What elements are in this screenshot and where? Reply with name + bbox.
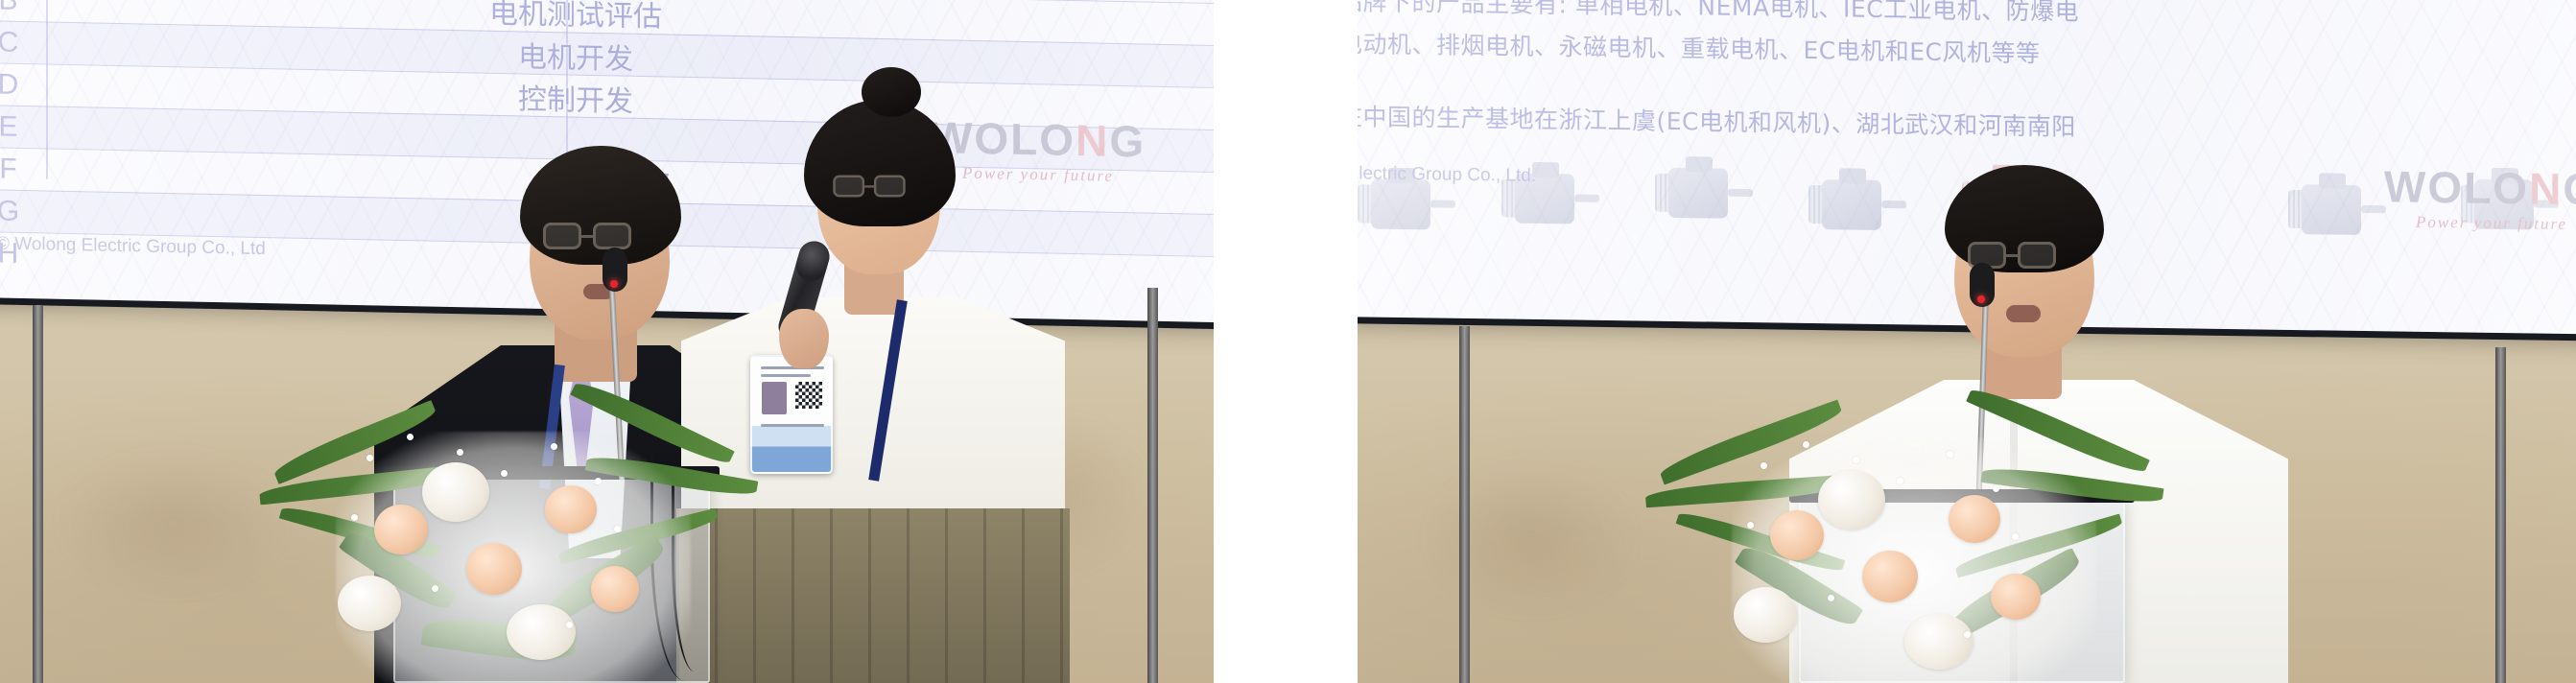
- screen-support-pole: [33, 305, 43, 683]
- flower-bouquet-left: [278, 288, 739, 683]
- hair: [804, 100, 956, 226]
- qr-code-icon: [795, 382, 822, 409]
- left-photograph: B C D E F G H: [0, 0, 1214, 683]
- eyeglass-lens: [833, 176, 864, 198]
- rose: [1770, 510, 1824, 560]
- mic-led-indicator: [1977, 295, 1985, 303]
- lily: [422, 462, 489, 522]
- flower-bouquet-right: [1665, 307, 2144, 683]
- photo-gutter: [1214, 0, 1358, 683]
- rose: [591, 566, 639, 612]
- table-row-letter: C: [0, 25, 46, 59]
- lily: [338, 576, 401, 631]
- table-row-letter: D: [0, 67, 46, 102]
- slide-line-2: 电动机、排烟电机、永磁电机、重载电机、EC电机和EC风机等等: [1358, 25, 2041, 74]
- badge-photo: [762, 382, 787, 414]
- lily: [1904, 614, 1973, 670]
- white-blouse: [681, 297, 1065, 539]
- eyeglass-bridge: [2006, 254, 2018, 257]
- wolong-wordmark: WOLONG: [2384, 164, 2576, 211]
- table-row-letter: E: [0, 109, 46, 144]
- eyeglass-bridge: [864, 185, 874, 187]
- rose: [1991, 574, 2041, 620]
- table-row-letter: F: [0, 152, 46, 186]
- rose: [466, 543, 522, 595]
- rose: [1862, 551, 1918, 602]
- screen-support-pole: [2495, 347, 2506, 683]
- photo-pair-stage: B C D E F G H: [0, 0, 2576, 683]
- badge-text-line: [761, 424, 824, 427]
- rose: [374, 505, 428, 554]
- eyeglasses: [833, 176, 905, 198]
- lily: [1818, 470, 1885, 530]
- right-photograph: 品牌下的产品主要有: 单相电机、NEMA电机、IEC工业电机、防爆电 电动机、排…: [1358, 0, 2576, 683]
- eyeglasses: [543, 223, 631, 249]
- eyeglass-lens: [593, 223, 631, 249]
- wall-stain: [58, 451, 288, 595]
- eyeglass-bridge: [581, 235, 593, 238]
- hair-bun: [862, 67, 921, 117]
- hand: [779, 309, 829, 368]
- eyeglass-lens: [874, 176, 906, 198]
- eyeglass-lens: [543, 223, 581, 249]
- wall-stain: [1425, 460, 1636, 614]
- lily: [507, 604, 576, 660]
- rose: [545, 485, 597, 533]
- speaker-woman: [700, 29, 1046, 683]
- screen-support-pole: [1459, 326, 1470, 683]
- slide-copyright-right: © Wolong Electric Group Co., Ltd.: [1358, 162, 1536, 187]
- screen-support-pole: [1147, 288, 1158, 683]
- rose: [1949, 495, 2000, 543]
- eyeglass-lens: [2018, 242, 2056, 269]
- id-badge: [750, 355, 833, 474]
- table-cell-text: 电机测试评估: [489, 0, 662, 35]
- table-row-letter: B: [0, 0, 46, 17]
- table-row-letter: G: [0, 194, 46, 228]
- motor-product-3: [1655, 156, 1755, 230]
- wolong-tagline: Power your future: [2384, 212, 2576, 234]
- motor-product-6: [2288, 173, 2388, 247]
- lily: [1734, 587, 1797, 643]
- wolong-logo-right: WOLONG Power your future: [2384, 164, 2576, 234]
- mic-led-indicator: [610, 280, 618, 288]
- badge-text-line: [761, 374, 811, 377]
